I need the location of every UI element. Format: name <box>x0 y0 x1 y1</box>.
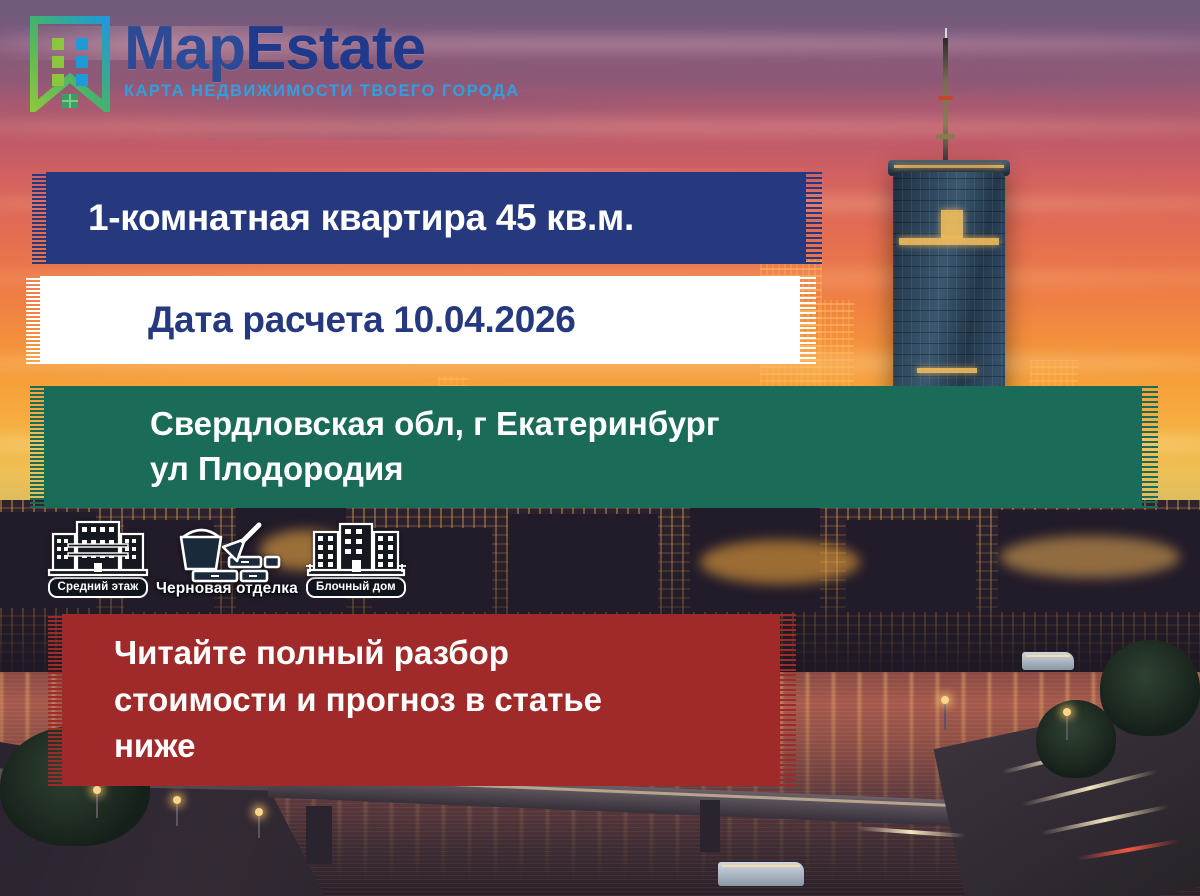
cta-line-3: ниже <box>114 723 602 770</box>
river-boat <box>1022 652 1074 670</box>
cta-line-1: Читайте полный разбор <box>114 630 602 677</box>
city-glow <box>1000 536 1180 578</box>
lit-floor <box>899 238 999 245</box>
feature-label: Блочный дом <box>306 577 406 598</box>
map-bookmark-building-icon <box>28 16 112 112</box>
river-boat <box>718 862 804 886</box>
panel-block-house-icon <box>304 516 408 580</box>
poster-canvas: MapEstate КАРТА НЕДВИЖИМОСТИ ТВОЕГО ГОРО… <box>0 0 1200 896</box>
street-lamp <box>1066 712 1068 740</box>
feature-label: Средний этаж <box>48 577 149 598</box>
feature-mid-floor[interactable]: Средний этаж <box>46 516 150 598</box>
cta-text: Читайте полный разбор стоимости и прогно… <box>114 630 602 771</box>
feature-block-house[interactable]: Блочный дом <box>304 516 408 598</box>
cta-line-2: стоимости и прогноз в статье <box>114 677 602 724</box>
city-glow <box>700 540 860 584</box>
antenna-mast <box>943 38 948 162</box>
street-lamp <box>176 800 178 826</box>
bridge-pier <box>306 806 332 864</box>
address-band: Свердловская обл, г Екатеринбург ул Плод… <box>44 386 1142 508</box>
property-type-text: 1-комнатная квартира 45 кв.м. <box>88 197 634 239</box>
bridge-pier <box>700 800 720 852</box>
street-lamp <box>944 700 946 730</box>
brand-name: MapEstate <box>124 20 520 79</box>
address-line-1: Свердловская обл, г Екатеринбург <box>150 402 720 447</box>
cta-band[interactable]: Читайте полный разбор стоимости и прогно… <box>62 614 780 786</box>
address-text: Свердловская обл, г Екатеринбург ул Плод… <box>150 402 720 492</box>
paint-bucket-trowel-bricks-icon <box>171 519 283 583</box>
feature-badges: Средний этаж Черновая о <box>46 516 408 598</box>
street-lamp <box>258 812 260 838</box>
feature-rough-finish[interactable]: Черновая отделка <box>156 519 298 598</box>
property-type-band: 1-комнатная квартира 45 кв.м. <box>46 172 806 264</box>
brand-name-map: Map <box>124 14 245 83</box>
tree <box>1036 700 1116 778</box>
address-line-2: ул Плодородия <box>150 447 720 492</box>
lit-floor <box>941 210 963 238</box>
brand-wordmark: MapEstate КАРТА НЕДВИЖИМОСТИ ТВОЕГО ГОРО… <box>124 16 520 101</box>
street-lamp <box>96 790 98 818</box>
city-building <box>846 520 976 612</box>
tree <box>1100 640 1200 736</box>
calculation-date-band: Дата расчета 10.04.2026 <box>40 276 800 364</box>
brand-name-estate: Estate <box>245 14 425 83</box>
calculation-date-text: Дата расчета 10.04.2026 <box>148 299 576 341</box>
brand-tagline: КАРТА НЕДВИЖИМОСТИ ТВОЕГО ГОРОДА <box>124 82 520 101</box>
mid-rise-building-icon <box>46 516 150 580</box>
lit-floor <box>917 368 977 373</box>
city-building <box>508 514 658 612</box>
cloud-streak <box>0 118 1200 136</box>
brand-logo[interactable]: MapEstate КАРТА НЕДВИЖИМОСТИ ТВОЕГО ГОРО… <box>28 16 520 112</box>
